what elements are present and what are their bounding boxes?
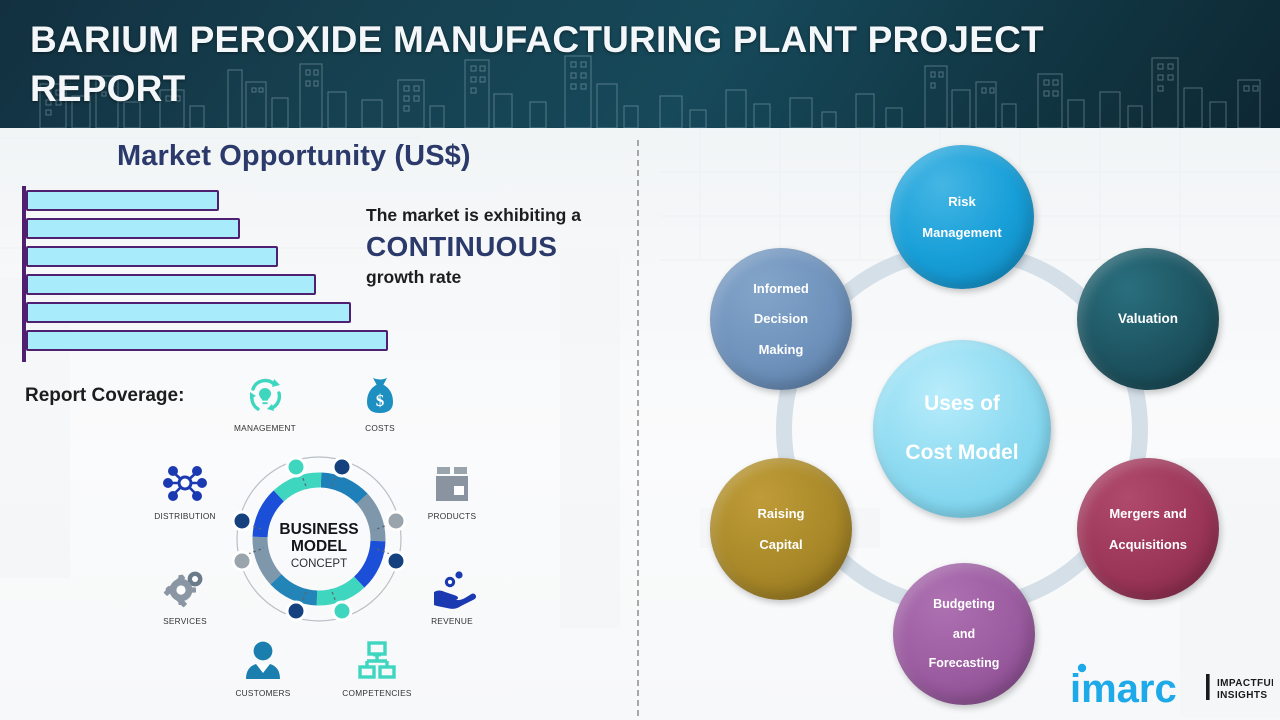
node-raising-capital[interactable]: Raising Capital — [710, 458, 852, 600]
market-opportunity-bar-chart — [22, 186, 402, 362]
coverage-item-label: COMPETENCIES — [327, 688, 427, 698]
growth-statement: The market is exhibiting a CONTINUOUS gr… — [366, 205, 634, 289]
business-model-line-3: CONCEPT — [291, 558, 347, 570]
business-model-line-1: BUSINESS — [279, 521, 358, 538]
slide-root: BARIUM PEROXIDE MANUFACTURING PLANT PROJ… — [0, 0, 1280, 720]
node-label-line: Forecasting — [923, 656, 1006, 671]
svg-text:$: $ — [376, 391, 385, 410]
coverage-item-label: PRODUCTS — [402, 511, 502, 521]
coverage-item-label: DISTRIBUTION — [135, 511, 235, 521]
coverage-item-distribution: DISTRIBUTION — [135, 460, 235, 521]
node-label-line: Management — [916, 225, 1007, 240]
node-label-line: Risk — [916, 194, 1007, 209]
coverage-item-label: COSTS — [330, 423, 430, 433]
node-label-line: and — [923, 627, 1006, 642]
growth-line-3: growth rate — [366, 267, 634, 289]
coverage-item-label: MANAGEMENT — [215, 423, 315, 433]
imarc-logo[interactable]: imarc IMPACTFUL INSIGHTS — [1068, 662, 1273, 710]
coverage-item-competencies: COMPETENCIES — [327, 637, 427, 698]
org-chart-icon — [327, 637, 427, 685]
box-package-icon — [402, 460, 502, 508]
coverage-item-label: REVENUE — [402, 616, 502, 626]
business-model-line-2: MODEL — [291, 538, 347, 555]
table-row — [26, 274, 316, 295]
coverage-item-products: PRODUCTS — [402, 460, 502, 521]
node-informed-decision-making[interactable]: Informed Decision Making — [710, 248, 852, 390]
growth-line-2: CONTINUOUS — [366, 227, 634, 268]
center-node-line-2: Cost Model — [899, 441, 1024, 466]
node-label-line: Capital — [752, 537, 811, 552]
coverage-item-revenue: REVENUE — [402, 565, 502, 626]
table-row — [26, 302, 351, 323]
table-row — [26, 190, 219, 211]
node-label-line: Budgeting — [923, 597, 1006, 612]
center-node-line-1: Uses of — [899, 392, 1024, 417]
node-mergers-and-acquisitions[interactable]: Mergers and Acquisitions — [1077, 458, 1219, 600]
coverage-item-management: MANAGEMENT — [215, 372, 315, 433]
node-valuation[interactable]: Valuation — [1077, 248, 1219, 390]
money-bag-icon: $ — [330, 372, 430, 420]
market-opportunity-title: Market Opportunity (US$) — [117, 140, 471, 173]
page-title: BARIUM PEROXIDE MANUFACTURING PLANT PROJ… — [30, 16, 1150, 114]
node-label-line: Raising — [752, 506, 811, 521]
coverage-item-costs: $ COSTS — [330, 372, 430, 433]
table-row — [26, 330, 388, 351]
coverage-item-label: CUSTOMERS — [213, 688, 313, 698]
gears-icon — [135, 565, 235, 613]
user-person-icon — [213, 637, 313, 685]
growth-line-1: The market is exhibiting a — [366, 205, 634, 227]
recycle-lightbulb-icon — [215, 372, 315, 420]
node-risk-management[interactable]: Risk Management — [890, 145, 1034, 289]
coverage-item-customers: CUSTOMERS — [213, 637, 313, 698]
hand-coins-icon — [402, 565, 502, 613]
table-row — [26, 218, 240, 239]
imarc-wordmark: imarc — [1070, 667, 1177, 710]
node-label-line: Valuation — [1112, 311, 1184, 327]
center-node-uses-of-cost-model: Uses of Cost Model — [873, 340, 1051, 518]
panel-divider — [637, 140, 639, 716]
slide-header: BARIUM PEROXIDE MANUFACTURING PLANT PROJ… — [0, 0, 1280, 128]
network-nodes-icon — [135, 460, 235, 508]
imarc-tagline-line-1: IMPACTFUL — [1217, 678, 1273, 689]
node-budgeting-and-forecasting[interactable]: Budgeting and Forecasting — [893, 563, 1035, 705]
coverage-item-services: SERVICES — [135, 565, 235, 626]
business-model-diagram: BUSINESS MODEL CONCEPT — [228, 448, 410, 630]
imarc-tagline-line-2: INSIGHTS — [1217, 690, 1267, 701]
coverage-item-label: SERVICES — [135, 616, 235, 626]
node-label-line: Acquisitions — [1103, 537, 1193, 552]
node-label-line: Making — [747, 342, 815, 357]
node-label-line: Mergers and — [1103, 506, 1193, 521]
uses-of-cost-model-diagram: Uses of Cost Model Risk Management Valua… — [665, 140, 1255, 720]
node-label-line: Decision — [747, 311, 815, 326]
table-row — [26, 246, 278, 267]
node-label-line: Informed — [747, 281, 815, 296]
